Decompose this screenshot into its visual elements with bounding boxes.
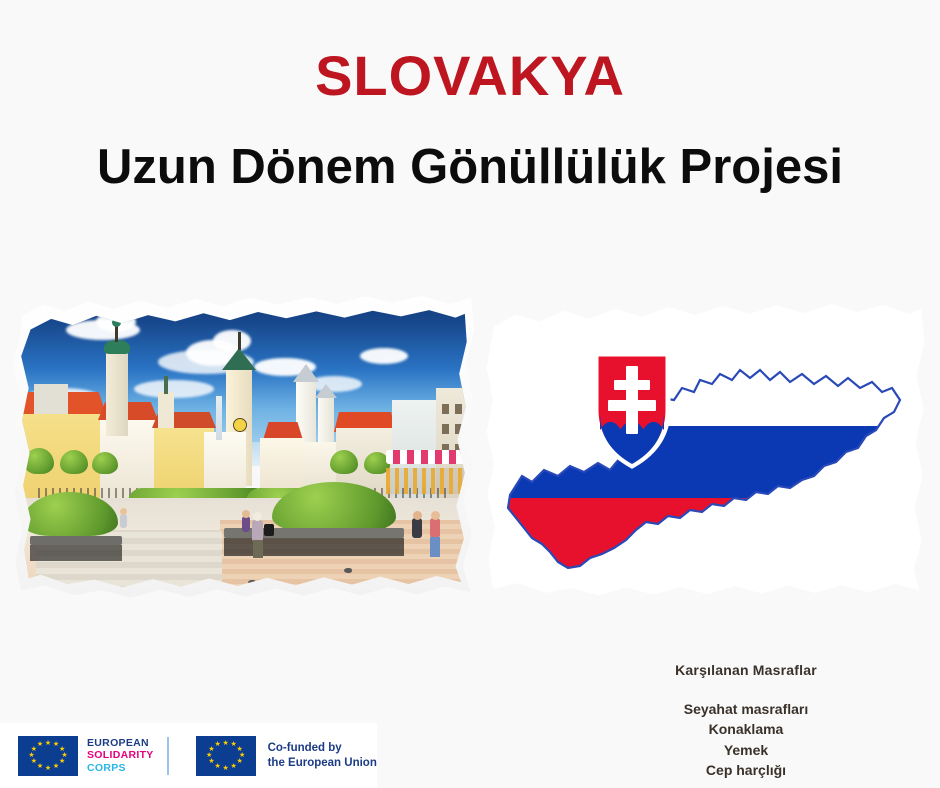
bench: [30, 536, 122, 545]
slovak-flag-fill: [484, 300, 928, 602]
covered-costs-list: Seyahat masrafları Konaklama Yemek Cep h…: [596, 699, 896, 781]
map-content: [484, 300, 928, 602]
logo-divider: [167, 737, 169, 775]
co-funded-line-1: Co-funded by: [268, 741, 377, 756]
cloud-icon: [213, 330, 251, 352]
window: [455, 404, 462, 414]
person: [430, 518, 440, 538]
bench: [30, 545, 122, 561]
poster-canvas: SLOVAKYA Uzun Dönem Gönüllülük Projesi: [0, 0, 940, 788]
tree: [92, 452, 118, 474]
slovakia-town-square-photo: [8, 292, 478, 604]
co-funded-line-2: the European Union: [268, 756, 377, 771]
tree: [330, 450, 358, 474]
window: [468, 424, 475, 434]
person: [120, 514, 127, 528]
bench: [224, 538, 404, 556]
flag-band-blue: [484, 426, 928, 498]
cloud-icon: [134, 380, 214, 398]
bench: [224, 528, 404, 538]
covered-costs-title: Karşılanan Masraflar: [596, 662, 896, 678]
co-funded-wordmark: Co-funded by the European Union: [268, 741, 377, 770]
covered-costs-block: Karşılanan Masraflar Seyahat masrafları …: [596, 662, 896, 781]
building: [158, 392, 174, 428]
person: [242, 510, 250, 518]
person-legs: [430, 537, 440, 557]
slovakia-flag-map: [484, 300, 928, 602]
person: [413, 511, 422, 520]
building: [34, 384, 68, 414]
list-item: Seyahat masrafları: [596, 699, 896, 719]
person: [242, 516, 250, 532]
flag-band-red: [484, 498, 928, 602]
tower-spire: [238, 332, 241, 350]
person: [253, 512, 262, 521]
obelisk: [216, 396, 222, 440]
window: [442, 404, 449, 414]
list-item: Cep harçlığı: [596, 760, 896, 780]
window: [442, 424, 449, 434]
logo-strip: ★ ★ ★ ★ ★ ★ ★ ★ ★ ★ ★ ★ EUROPEAN SOLIDAR…: [0, 723, 377, 788]
backpack: [264, 524, 274, 536]
esc-line-2: SOLIDARITY: [87, 749, 154, 761]
esc-line-1: EUROPEAN: [87, 737, 154, 749]
tower-spire: [164, 376, 168, 394]
list-item: Konaklama: [596, 719, 896, 739]
person: [431, 511, 440, 520]
co-funded-by-eu-logo: ★ ★ ★ ★ ★ ★ ★ ★ ★ ★ ★ ★ Co-funded by the…: [196, 736, 377, 776]
person-legs: [253, 540, 263, 558]
building: [204, 432, 246, 492]
photo-content: [8, 292, 478, 604]
slovakia-map-svg: [484, 300, 928, 602]
flag-band-white: [484, 300, 928, 426]
tower-dome: [104, 340, 130, 354]
building: [260, 438, 304, 492]
tree: [60, 450, 88, 474]
page-title: SLOVAKYA: [0, 48, 940, 104]
esc-wordmark: EUROPEAN SOLIDARITY CORPS: [87, 737, 154, 774]
eu-flag-icon: ★ ★ ★ ★ ★ ★ ★ ★ ★ ★ ★ ★: [196, 736, 256, 776]
person: [120, 508, 127, 515]
clock-face: [233, 418, 247, 432]
church-tower: [106, 350, 128, 436]
page-subtitle: Uzun Dönem Gönüllülük Projesi: [0, 142, 940, 193]
list-item: Yemek: [596, 740, 896, 760]
eu-flag-icon: ★ ★ ★ ★ ★ ★ ★ ★ ★ ★ ★ ★: [18, 736, 78, 776]
person: [412, 518, 422, 538]
cloud-icon: [360, 348, 408, 364]
pigeon: [344, 568, 352, 573]
person: [252, 520, 263, 542]
european-solidarity-corps-logo: ★ ★ ★ ★ ★ ★ ★ ★ ★ ★ ★ ★ EUROPEAN SOLIDAR…: [18, 736, 169, 776]
esc-line-3: CORPS: [87, 762, 154, 774]
